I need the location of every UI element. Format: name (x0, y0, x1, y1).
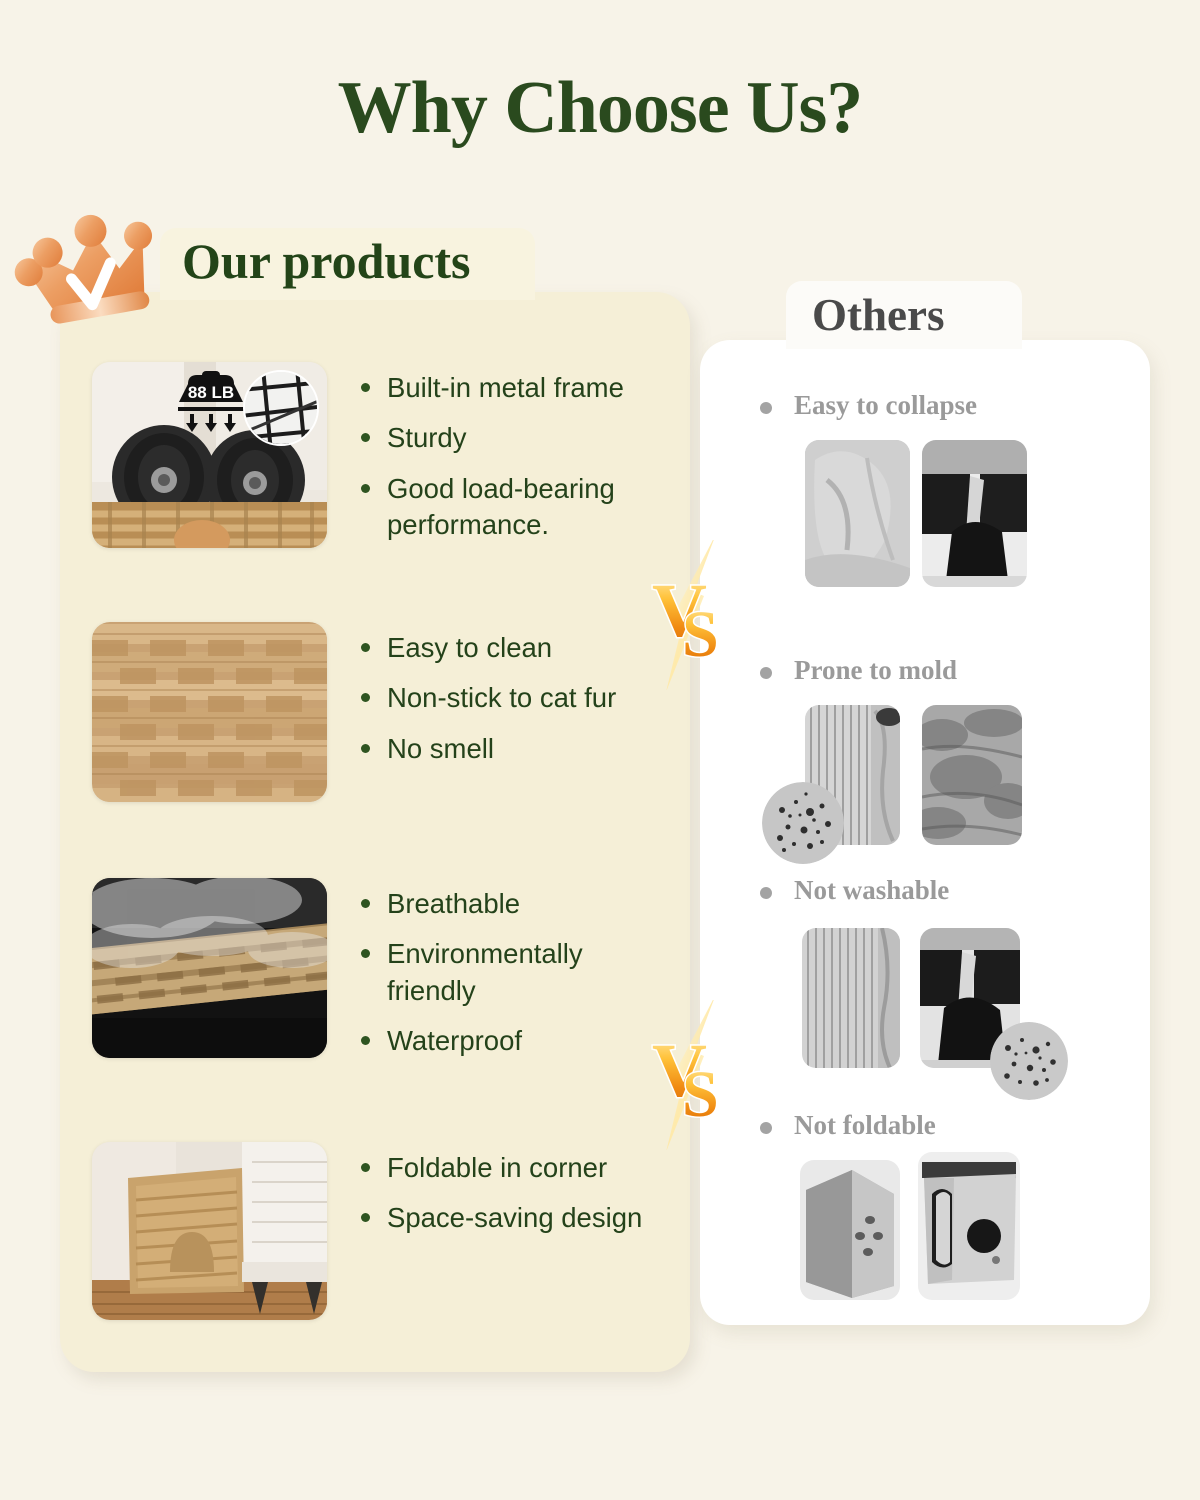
others-heading-foldable: Not foldable (760, 1110, 936, 1141)
our-row-foldable: Foldable in corner Space-saving design (92, 1142, 642, 1320)
dumbbells-in-basket-photo: 88 LB (92, 362, 327, 548)
list-item: Waterproof (359, 1023, 669, 1059)
stained-fabric-panel-photo (802, 928, 900, 1068)
metal-frame-inset-photo (243, 370, 319, 446)
svg-text:S: S (682, 1058, 719, 1131)
collapsed-fabric-box-photo (805, 440, 910, 587)
others-tab-label: Others (812, 289, 944, 341)
weight-value: 88 LB (188, 383, 234, 402)
our-row-rattan: Easy to clean Non-stick to cat fur No sm… (92, 622, 616, 802)
bullet-list-row4: Foldable in corner Space-saving design (359, 1142, 642, 1251)
our-row-breathable: Breathable Environmentally friendly Wate… (92, 878, 669, 1073)
dirt-spots-closeup-photo (990, 1022, 1068, 1100)
mold-spots-closeup-photo (762, 782, 844, 864)
list-item: Space-saving design (359, 1200, 642, 1236)
list-item: Good load-bearing performance. (359, 471, 669, 544)
woven-rattan-texture-photo (92, 622, 327, 802)
page-title: Why Choose Us? (0, 66, 1200, 151)
list-item: No smell (359, 731, 616, 767)
svg-text:S: S (682, 598, 719, 671)
bullet-list-row2: Easy to clean Non-stick to cat fur No sm… (359, 622, 616, 781)
others-heading-collapse: Easy to collapse (760, 390, 977, 421)
our-products-tab-label: Our products (182, 232, 471, 290)
rigid-plastic-box-photo (800, 1160, 900, 1300)
bullet-list-row3: Breathable Environmentally friendly Wate… (359, 878, 669, 1073)
vs-badge-bottom: V S (630, 1000, 740, 1150)
others-heading-mold: Prone to mold (760, 655, 957, 686)
our-row-dumbbells: 88 LB (92, 362, 669, 557)
vs-badge-top: V S (630, 540, 740, 690)
list-item: Non-stick to cat fur (359, 680, 616, 716)
list-item: Built-in metal frame (359, 370, 669, 406)
down-arrows-icon (186, 414, 236, 432)
rigid-metal-box-photo (918, 1152, 1020, 1300)
steam-over-rattan-photo (92, 878, 327, 1058)
list-item: Foldable in corner (359, 1150, 642, 1186)
list-item: Breathable (359, 886, 669, 922)
list-item: Easy to clean (359, 630, 616, 666)
mold-stained-surface-photo (922, 705, 1022, 845)
others-heading-washable: Not washable (760, 875, 949, 906)
dark-collapsed-litter-box-photo (922, 440, 1027, 587)
bullet-list-row1: Built-in metal frame Sturdy Good load-be… (359, 362, 669, 557)
list-item: Environmentally friendly (359, 936, 669, 1009)
list-item: Sturdy (359, 420, 669, 456)
folded-litter-box-in-room-photo (92, 1142, 327, 1320)
